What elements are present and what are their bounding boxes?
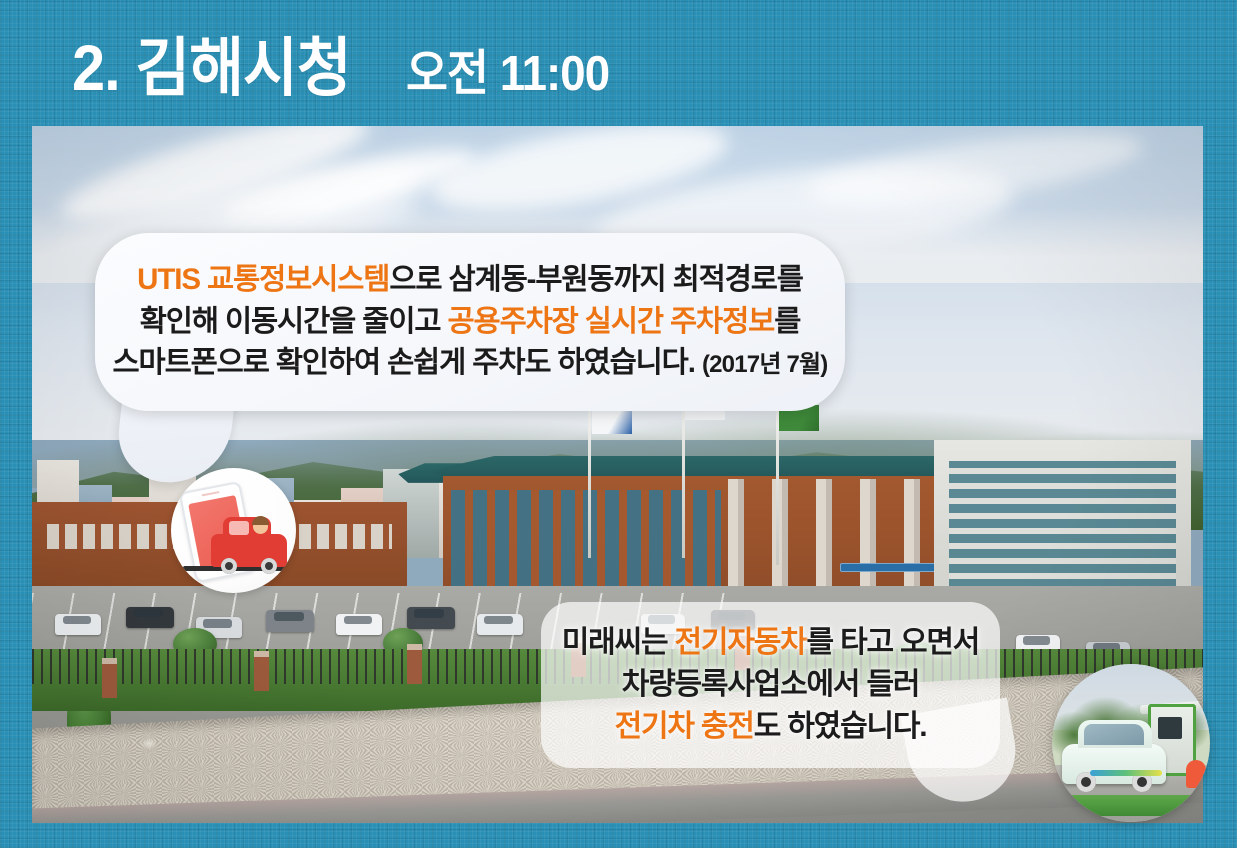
title-text: 2. 김해시청: [72, 17, 351, 109]
parked-car: [336, 614, 382, 635]
ev-bubble-line-2: 차량등록사업소에서 들러: [622, 666, 920, 704]
phone-speaker: [202, 491, 220, 496]
fence-pillar: [407, 644, 422, 684]
smartphone-navigation-icon: [171, 468, 296, 593]
bubble-line-2-pre: 확인해 이동시간을 줄이고: [140, 305, 448, 338]
electric-vehicle-charging-photo: [1052, 664, 1210, 822]
bubble-date-note: (2017년 7월): [702, 351, 828, 378]
utis-info-speech-bubble: UTIS 교통정보시스템으로 삼계동-부원동까지 최적경로를 확인해 이동시간을…: [95, 233, 845, 411]
car-wheel: [261, 558, 277, 574]
charger-screen: [1158, 717, 1182, 739]
parked-car: [126, 607, 174, 628]
red-car-icon: [211, 534, 287, 567]
bubble-line-3-text: 스마트폰으로 확인하여 손쉽게 주차도 하였습니다.: [113, 346, 695, 379]
ev-bubble-line-1: 미래씨는 전기자동차를 타고 오면서: [562, 624, 979, 662]
utis-highlight: UTIS 교통정보시스템: [137, 263, 389, 296]
parked-car: [477, 614, 523, 635]
ev-line-1-post: 를 타고 오면서: [807, 626, 980, 659]
header: 2. 김해시청 오전 11:00: [0, 0, 1237, 126]
bubble-line-1-rest: 으로 삼계동-부원동까지 최적경로를: [389, 263, 803, 296]
speech-bubble-text: 미래씨는 전기자동차를 타고 오면서 차량등록사업소에서 들러 전기차 충전도 …: [541, 602, 1000, 768]
fence-pillar: [254, 651, 269, 691]
bubble-line-3: 스마트폰으로 확인하여 손쉽게 주차도 하였습니다. (2017년 7월): [113, 345, 828, 382]
korea-flag: [592, 408, 632, 434]
parked-car: [266, 610, 314, 632]
modern-windows: [949, 461, 1176, 602]
title-time: 오전 11:00: [406, 34, 609, 105]
electric-car: [1062, 744, 1166, 784]
ev-info-speech-bubble: 미래씨는 전기자동차를 타고 오면서 차량등록사업소에서 들러 전기차 충전도 …: [541, 602, 1000, 768]
bubble-line-2-post: 를: [774, 305, 800, 338]
ev-line-3-post: 도 하였습니다.: [754, 710, 927, 743]
ev-charge-highlight: 전기차 충전: [615, 710, 754, 743]
bubble-line-2: 확인해 이동시간을 줄이고 공용주차장 실시간 주차정보를: [140, 304, 800, 341]
car-wheel: [221, 558, 237, 574]
page-title: 2. 김해시청 오전 11:00: [72, 17, 624, 109]
ev-car-stripe: [1090, 770, 1162, 776]
speech-bubble-text: UTIS 교통정보시스템으로 삼계동-부원동까지 최적경로를 확인해 이동시간을…: [95, 233, 845, 411]
ev-bubble-line-3: 전기차 충전도 하였습니다.: [615, 708, 927, 746]
bubble-line-1: UTIS 교통정보시스템으로 삼계동-부원동까지 최적경로를: [137, 262, 803, 299]
ev-line-1-pre: 미래씨는: [562, 626, 675, 659]
parked-car: [407, 607, 455, 629]
fence-pillar: [102, 658, 117, 698]
ev-line-2-text: 차량등록사업소에서 들러: [622, 668, 920, 701]
ev-car-highlight: 전기자동차: [675, 626, 807, 659]
ev-car-window: [1084, 724, 1144, 745]
infographic-card: 2. 김해시청 오전 11:00: [0, 0, 1237, 848]
car-window: [229, 521, 249, 535]
charging-sign: [1186, 760, 1206, 788]
ev-green-pad: [1052, 795, 1210, 816]
parking-info-highlight: 공용주차장 실시간 주차정보: [448, 305, 775, 338]
parked-car: [55, 614, 101, 635]
facade-windows: [451, 490, 721, 591]
